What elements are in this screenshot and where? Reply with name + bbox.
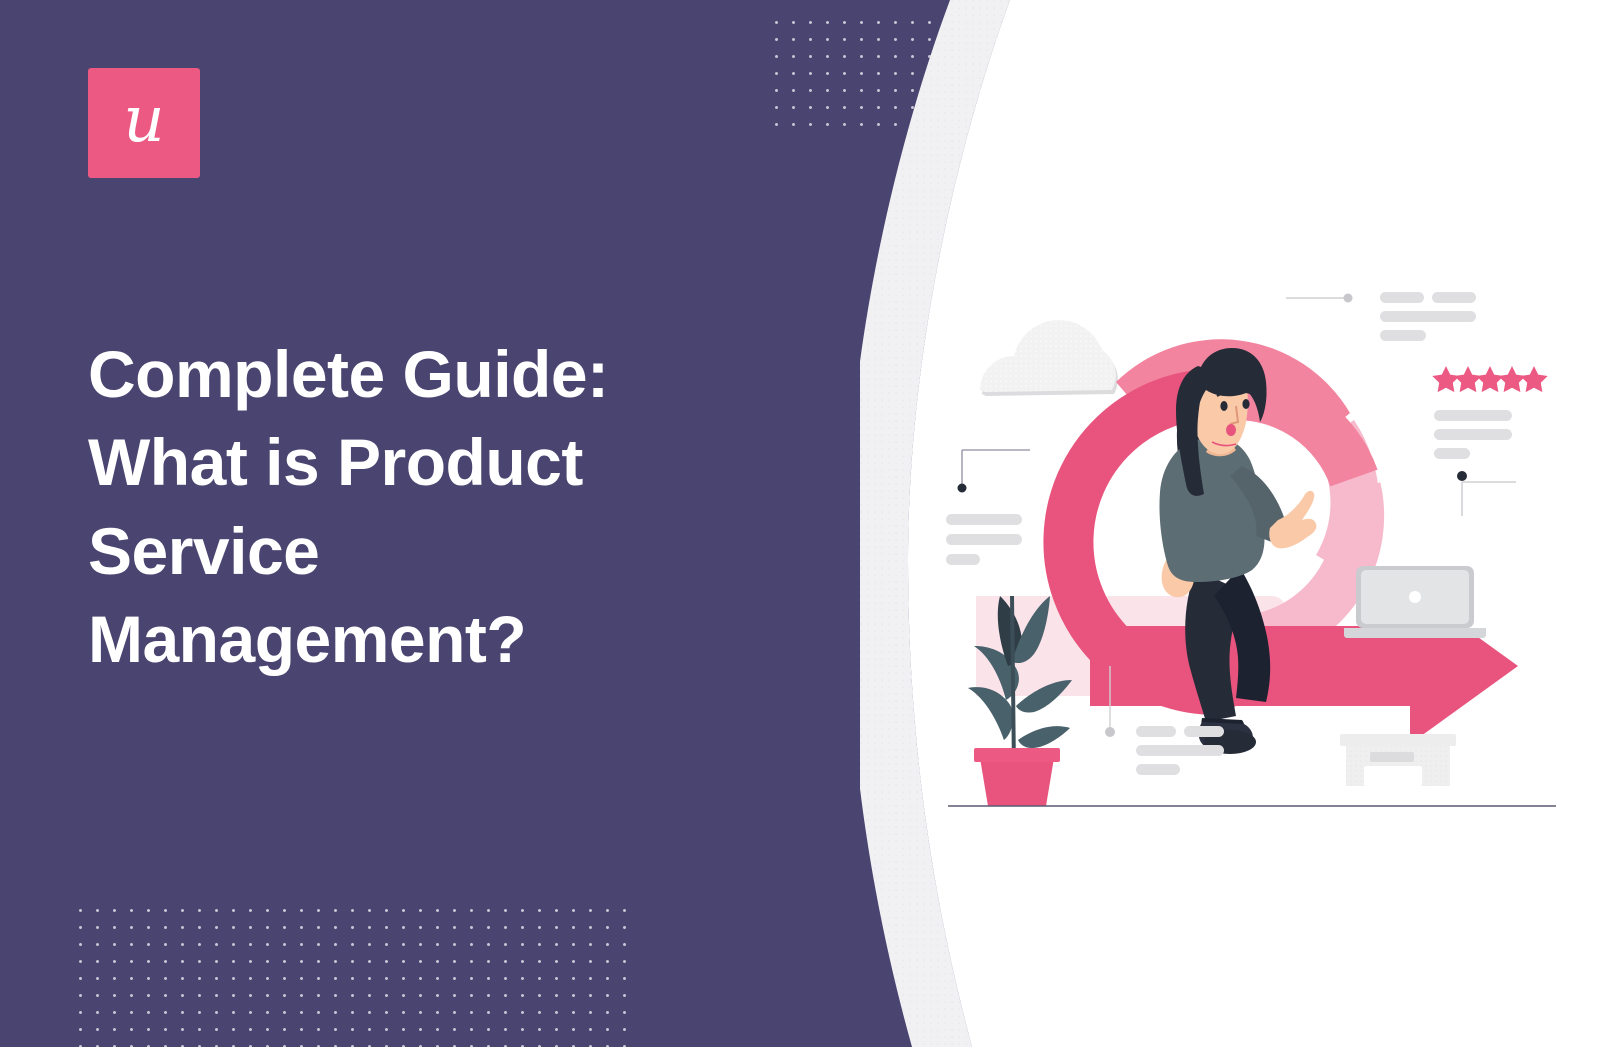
storage-box-icon [1340, 734, 1456, 786]
page-title: Complete Guide: What is Product Service … [88, 330, 728, 684]
logo-letter-u-icon: u [123, 88, 164, 152]
userpilot-logo[interactable]: u [88, 68, 200, 178]
placeholder-card-right [1434, 410, 1516, 516]
star-rating [1432, 366, 1547, 392]
laptop-icon [1344, 566, 1486, 638]
title-line-1: Complete Guide: [88, 337, 609, 411]
title-line-3: Service [88, 514, 319, 588]
hero-illustration [940, 270, 1560, 810]
title-line-4: Management? [88, 602, 526, 676]
poster-canvas: u Complete Guide: What is Product Servic… [0, 0, 1600, 1047]
cloud-icon [980, 320, 1118, 396]
title-line-2: What is Product [88, 425, 583, 499]
placeholder-card-top-right [1286, 292, 1476, 341]
